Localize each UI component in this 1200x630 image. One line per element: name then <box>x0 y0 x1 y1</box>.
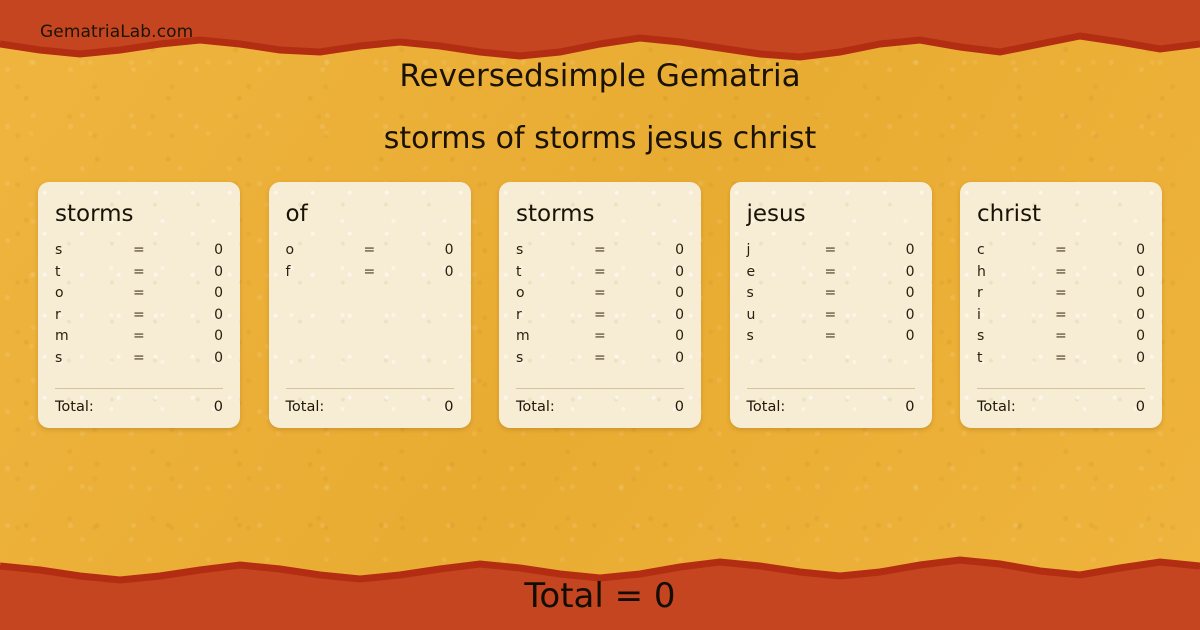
letter-char: f <box>286 264 364 280</box>
word-total-value: 0 <box>675 399 684 415</box>
letter-char: s <box>55 242 133 258</box>
letter-value-list: s=0t=0o=0r=0m=0s=0 <box>516 242 684 371</box>
letter-value: 0 <box>145 242 223 258</box>
letter-value: 0 <box>145 285 223 301</box>
word-total-value: 0 <box>905 399 914 415</box>
letter-char: t <box>977 350 1055 366</box>
word-card-footer: Total:0 <box>286 388 454 415</box>
letter-value-row: i=0 <box>977 307 1145 329</box>
equals-sign: = <box>825 328 837 344</box>
word-total-row: Total:0 <box>55 399 223 415</box>
letter-value-row: e=0 <box>747 264 915 286</box>
word-card-footer: Total:0 <box>55 388 223 415</box>
letter-value-list: s=0t=0o=0r=0m=0s=0 <box>55 242 223 371</box>
equals-sign: = <box>594 307 606 323</box>
letter-char: s <box>747 328 825 344</box>
letter-value-row: s=0 <box>516 242 684 264</box>
equals-sign: = <box>133 350 145 366</box>
equals-sign: = <box>594 328 606 344</box>
equals-sign: = <box>825 307 837 323</box>
word-total-row: Total:0 <box>286 399 454 415</box>
equals-sign: = <box>1055 328 1067 344</box>
equals-sign: = <box>825 264 837 280</box>
letter-char: j <box>747 242 825 258</box>
word-total-value: 0 <box>444 399 453 415</box>
letter-char: m <box>516 328 594 344</box>
letter-value: 0 <box>375 242 453 258</box>
letter-value-row: r=0 <box>55 307 223 329</box>
word-total-value: 0 <box>1136 399 1145 415</box>
letter-value: 0 <box>836 285 914 301</box>
letter-value-row: s=0 <box>977 328 1145 350</box>
letter-value-list: o=0f=0 <box>286 242 454 285</box>
letter-value: 0 <box>606 264 684 280</box>
equals-sign: = <box>133 242 145 258</box>
cipher-title: Reversedsimple Gematria <box>0 58 1200 94</box>
divider <box>977 388 1145 389</box>
equals-sign: = <box>594 264 606 280</box>
letter-char: r <box>516 307 594 323</box>
letter-value-row: t=0 <box>55 264 223 286</box>
word-card: stormss=0t=0o=0r=0m=0s=0Total:0 <box>38 182 240 428</box>
word-card-footer: Total:0 <box>747 388 915 415</box>
letter-value: 0 <box>606 242 684 258</box>
divider <box>516 388 684 389</box>
letter-value: 0 <box>606 285 684 301</box>
letter-value: 0 <box>836 264 914 280</box>
word-card-footer: Total:0 <box>977 388 1145 415</box>
letter-value: 0 <box>145 307 223 323</box>
letter-char: t <box>55 264 133 280</box>
letter-value-row: r=0 <box>516 307 684 329</box>
gematria-poster: GematriaLab.com Reversedsimple Gematria … <box>0 0 1200 630</box>
word-card: stormss=0t=0o=0r=0m=0s=0Total:0 <box>499 182 701 428</box>
letter-value-row: t=0 <box>977 350 1145 372</box>
letter-value-row: u=0 <box>747 307 915 329</box>
letter-value: 0 <box>375 264 453 280</box>
equals-sign: = <box>1055 307 1067 323</box>
letter-value-row: o=0 <box>286 242 454 264</box>
letter-value-row: r=0 <box>977 285 1145 307</box>
word-card-title: of <box>286 202 454 226</box>
letter-char: r <box>977 285 1055 301</box>
letter-value-list: j=0e=0s=0u=0s=0 <box>747 242 915 350</box>
word-card-title: storms <box>516 202 684 226</box>
letter-value: 0 <box>1067 285 1145 301</box>
letter-value: 0 <box>1067 307 1145 323</box>
word-total-label: Total: <box>55 399 94 415</box>
word-total-row: Total:0 <box>977 399 1145 415</box>
letter-value-row: s=0 <box>55 242 223 264</box>
word-card-title: christ <box>977 202 1145 226</box>
word-card-title: jesus <box>747 202 915 226</box>
divider <box>55 388 223 389</box>
letter-char: s <box>747 285 825 301</box>
letter-value-row: h=0 <box>977 264 1145 286</box>
equals-sign: = <box>594 285 606 301</box>
letter-char: u <box>747 307 825 323</box>
word-total-label: Total: <box>516 399 555 415</box>
letter-char: e <box>747 264 825 280</box>
divider <box>286 388 454 389</box>
letter-char: m <box>55 328 133 344</box>
letter-char: i <box>977 307 1055 323</box>
letter-char: o <box>286 242 364 258</box>
equals-sign: = <box>1055 264 1067 280</box>
word-total-label: Total: <box>977 399 1016 415</box>
word-card: christc=0h=0r=0i=0s=0t=0Total:0 <box>960 182 1162 428</box>
letter-value: 0 <box>836 328 914 344</box>
grand-total: Total = 0 <box>0 576 1200 616</box>
letter-value: 0 <box>1067 328 1145 344</box>
letter-value: 0 <box>145 328 223 344</box>
equals-sign: = <box>364 264 376 280</box>
letter-value-row: o=0 <box>55 285 223 307</box>
letter-value: 0 <box>1067 242 1145 258</box>
divider <box>747 388 915 389</box>
word-card: jesusj=0e=0s=0u=0s=0Total:0 <box>730 182 932 428</box>
letter-char: s <box>55 350 133 366</box>
equals-sign: = <box>133 264 145 280</box>
letter-value: 0 <box>606 350 684 366</box>
word-total-row: Total:0 <box>516 399 684 415</box>
letter-value-row: t=0 <box>516 264 684 286</box>
letter-value-row: s=0 <box>516 350 684 372</box>
equals-sign: = <box>1055 285 1067 301</box>
equals-sign: = <box>825 242 837 258</box>
word-total-value: 0 <box>214 399 223 415</box>
letter-value-row: j=0 <box>747 242 915 264</box>
site-logo[interactable]: GematriaLab.com <box>40 22 193 42</box>
letter-value: 0 <box>145 350 223 366</box>
word-total-row: Total:0 <box>747 399 915 415</box>
letter-char: s <box>516 242 594 258</box>
equals-sign: = <box>133 328 145 344</box>
letter-char: s <box>516 350 594 366</box>
word-card-title: storms <box>55 202 223 226</box>
letter-char: s <box>977 328 1055 344</box>
letter-value: 0 <box>836 242 914 258</box>
letter-value-row: o=0 <box>516 285 684 307</box>
letter-value-row: c=0 <box>977 242 1145 264</box>
letter-value: 0 <box>606 328 684 344</box>
word-card-footer: Total:0 <box>516 388 684 415</box>
letter-value-list: c=0h=0r=0i=0s=0t=0 <box>977 242 1145 371</box>
letter-char: o <box>516 285 594 301</box>
letter-char: c <box>977 242 1055 258</box>
letter-value-row: f=0 <box>286 264 454 286</box>
letter-value: 0 <box>1067 264 1145 280</box>
letter-char: h <box>977 264 1055 280</box>
letter-value-row: m=0 <box>516 328 684 350</box>
equals-sign: = <box>825 285 837 301</box>
letter-value-row: m=0 <box>55 328 223 350</box>
equals-sign: = <box>133 307 145 323</box>
equals-sign: = <box>594 350 606 366</box>
letter-value: 0 <box>1067 350 1145 366</box>
equals-sign: = <box>364 242 376 258</box>
word-total-label: Total: <box>747 399 786 415</box>
letter-value: 0 <box>606 307 684 323</box>
letter-value-row: s=0 <box>55 350 223 372</box>
word-cards-row: stormss=0t=0o=0r=0m=0s=0Total:0ofo=0f=0T… <box>38 182 1162 428</box>
letter-value: 0 <box>145 264 223 280</box>
equals-sign: = <box>1055 350 1067 366</box>
word-total-label: Total: <box>286 399 325 415</box>
word-card: ofo=0f=0Total:0 <box>269 182 471 428</box>
equals-sign: = <box>594 242 606 258</box>
letter-value-row: s=0 <box>747 328 915 350</box>
phrase-heading: storms of storms jesus christ <box>0 121 1200 156</box>
letter-char: o <box>55 285 133 301</box>
equals-sign: = <box>133 285 145 301</box>
letter-value-row: s=0 <box>747 285 915 307</box>
letter-char: r <box>55 307 133 323</box>
equals-sign: = <box>1055 242 1067 258</box>
letter-value: 0 <box>836 307 914 323</box>
letter-char: t <box>516 264 594 280</box>
